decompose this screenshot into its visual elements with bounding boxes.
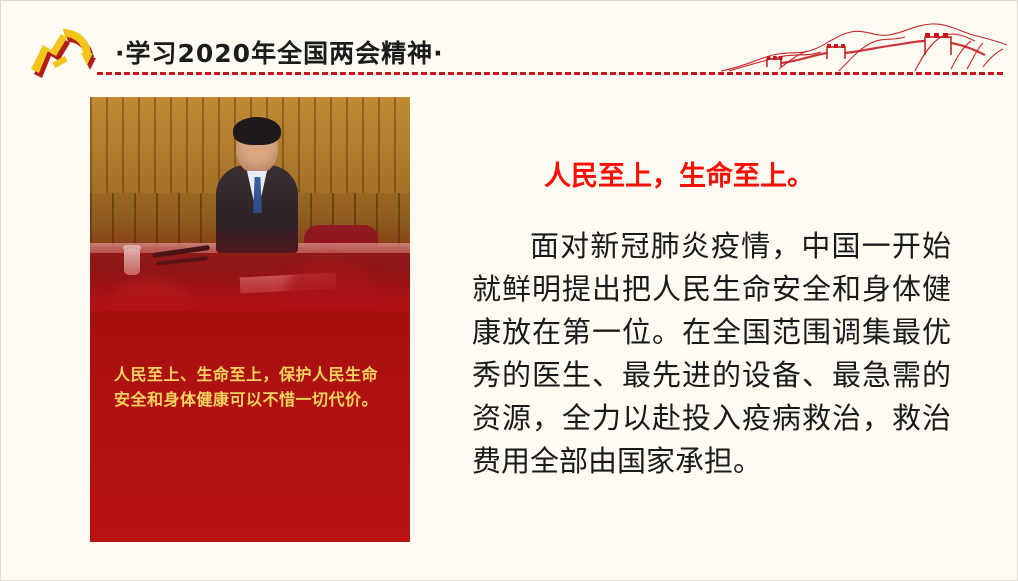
poster-red-panel bbox=[90, 311, 410, 542]
great-wall-illustration bbox=[719, 15, 1009, 75]
poster-caption: 人民至上、生命至上，保护人民生命安全和身体健康可以不惜一切代价。 bbox=[114, 362, 392, 412]
page-title: ·学习2020年全国两会精神· bbox=[115, 37, 444, 71]
content-heading: 人民至上，生命至上。 bbox=[544, 159, 814, 195]
presentation-slide: ·学习2020年全国两会精神· bbox=[0, 0, 1018, 581]
leader-speaking-photo bbox=[90, 97, 410, 315]
photo-fade-overlay bbox=[90, 223, 410, 315]
content-body-text: 面对新冠肺炎疫情，中国一开始就鲜明提出把人民生命安全和身体健康放在第一位。在全国… bbox=[472, 225, 951, 483]
party-emblem-hammer-sickle-icon bbox=[23, 25, 107, 87]
photo-speaker-hair bbox=[233, 117, 281, 145]
poster-image: 人民至上、生命至上，保护人民生命安全和身体健康可以不惜一切代价。 第一 报道 bbox=[90, 97, 410, 542]
